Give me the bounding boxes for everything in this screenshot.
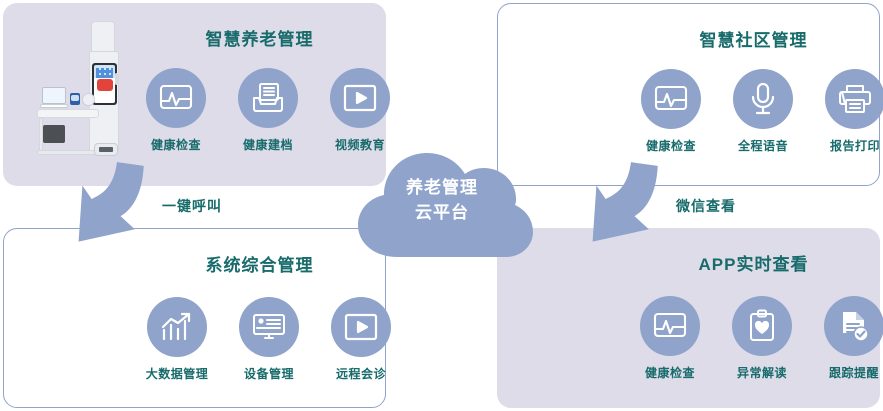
video-play-icon — [330, 68, 390, 128]
feature-label: 设备管理 — [234, 365, 304, 382]
ecg-monitor-icon — [146, 68, 206, 128]
ecg-monitor-icon — [641, 69, 701, 129]
feature-health-check[interactable]: 健康检查 — [635, 296, 705, 381]
cloud-platform-label: 养老管理 云平台 — [346, 175, 538, 225]
bar-chart-growth-icon — [147, 297, 207, 357]
panel-smart-elderly-care: 智慧养老管理 — [3, 3, 386, 186]
feature-tracking-reminder[interactable]: 跟踪提醒 — [819, 296, 883, 381]
feature-health-check[interactable]: 健康检查 — [636, 69, 706, 154]
panel-app-realtime-view: APP实时查看 — [497, 228, 880, 408]
feature-label: 健康建档 — [233, 136, 303, 153]
feature-voice-guidance[interactable]: 全程语音 — [728, 69, 798, 154]
arrow-top-right-to-bottom-right — [592, 160, 662, 250]
printer-icon — [825, 69, 883, 129]
document-check-icon — [824, 296, 883, 356]
cloud-platform-node: 养老管理 云平台 — [346, 139, 538, 261]
panel-system-management: 系统综合管理 A/B B/C C/D D/F — [3, 228, 386, 408]
feature-icon-row-bottom-right: 健康检查 异常解读 — [635, 296, 883, 381]
ecg-monitor-icon — [640, 296, 700, 356]
panel-title-bottom-right: APP实时查看 — [497, 250, 880, 275]
feature-device-management[interactable]: 设备管理 — [234, 297, 304, 382]
feature-big-data-management[interactable]: 大数据管理 — [142, 297, 212, 382]
microphone-icon — [733, 69, 793, 129]
panel-title-bottom-left: 系统综合管理 — [4, 251, 385, 276]
document-archive-icon — [238, 68, 298, 128]
diagram-canvas: 智慧养老管理 — [0, 0, 883, 411]
feature-label: 健康检查 — [141, 136, 211, 153]
panel-smart-community: 智慧社区管理 — [497, 3, 880, 186]
cloud-label-line2: 云平台 — [346, 200, 538, 225]
health-kiosk-illustration-top-left — [29, 17, 147, 175]
panel-title-top-right: 智慧社区管理 — [498, 26, 879, 51]
arrow-label-one-key-call: 一键呼叫 — [162, 196, 222, 216]
feature-label: 远程会诊 — [326, 365, 396, 382]
feature-icon-row-bottom-left: 大数据管理 设备管理 — [142, 297, 396, 382]
feature-report-print[interactable]: 报告打印 — [820, 69, 883, 154]
arrow-top-left-to-bottom-left — [78, 160, 148, 250]
feature-label: 大数据管理 — [142, 365, 212, 382]
feature-label: 报告打印 — [820, 137, 883, 154]
desktop-device-icon — [239, 297, 299, 357]
cloud-label-line1: 养老管理 — [346, 175, 538, 200]
clipboard-heart-icon — [732, 296, 792, 356]
feature-label: 健康检查 — [636, 137, 706, 154]
feature-label: 异常解读 — [727, 364, 797, 381]
feature-remote-consultation[interactable]: 远程会诊 — [326, 297, 396, 382]
feature-label: 健康检查 — [635, 364, 705, 381]
feature-health-record[interactable]: 健康建档 — [233, 68, 303, 153]
video-play-icon — [331, 297, 391, 357]
feature-anomaly-interpretation[interactable]: 异常解读 — [727, 296, 797, 381]
arrow-label-wechat-view: 微信查看 — [676, 196, 736, 216]
feature-icon-row-top-right: 健康检查 全程语音 — [636, 69, 883, 154]
feature-label: 全程语音 — [728, 137, 798, 154]
feature-label: 跟踪提醒 — [819, 364, 883, 381]
feature-health-check[interactable]: 健康检查 — [141, 68, 211, 153]
